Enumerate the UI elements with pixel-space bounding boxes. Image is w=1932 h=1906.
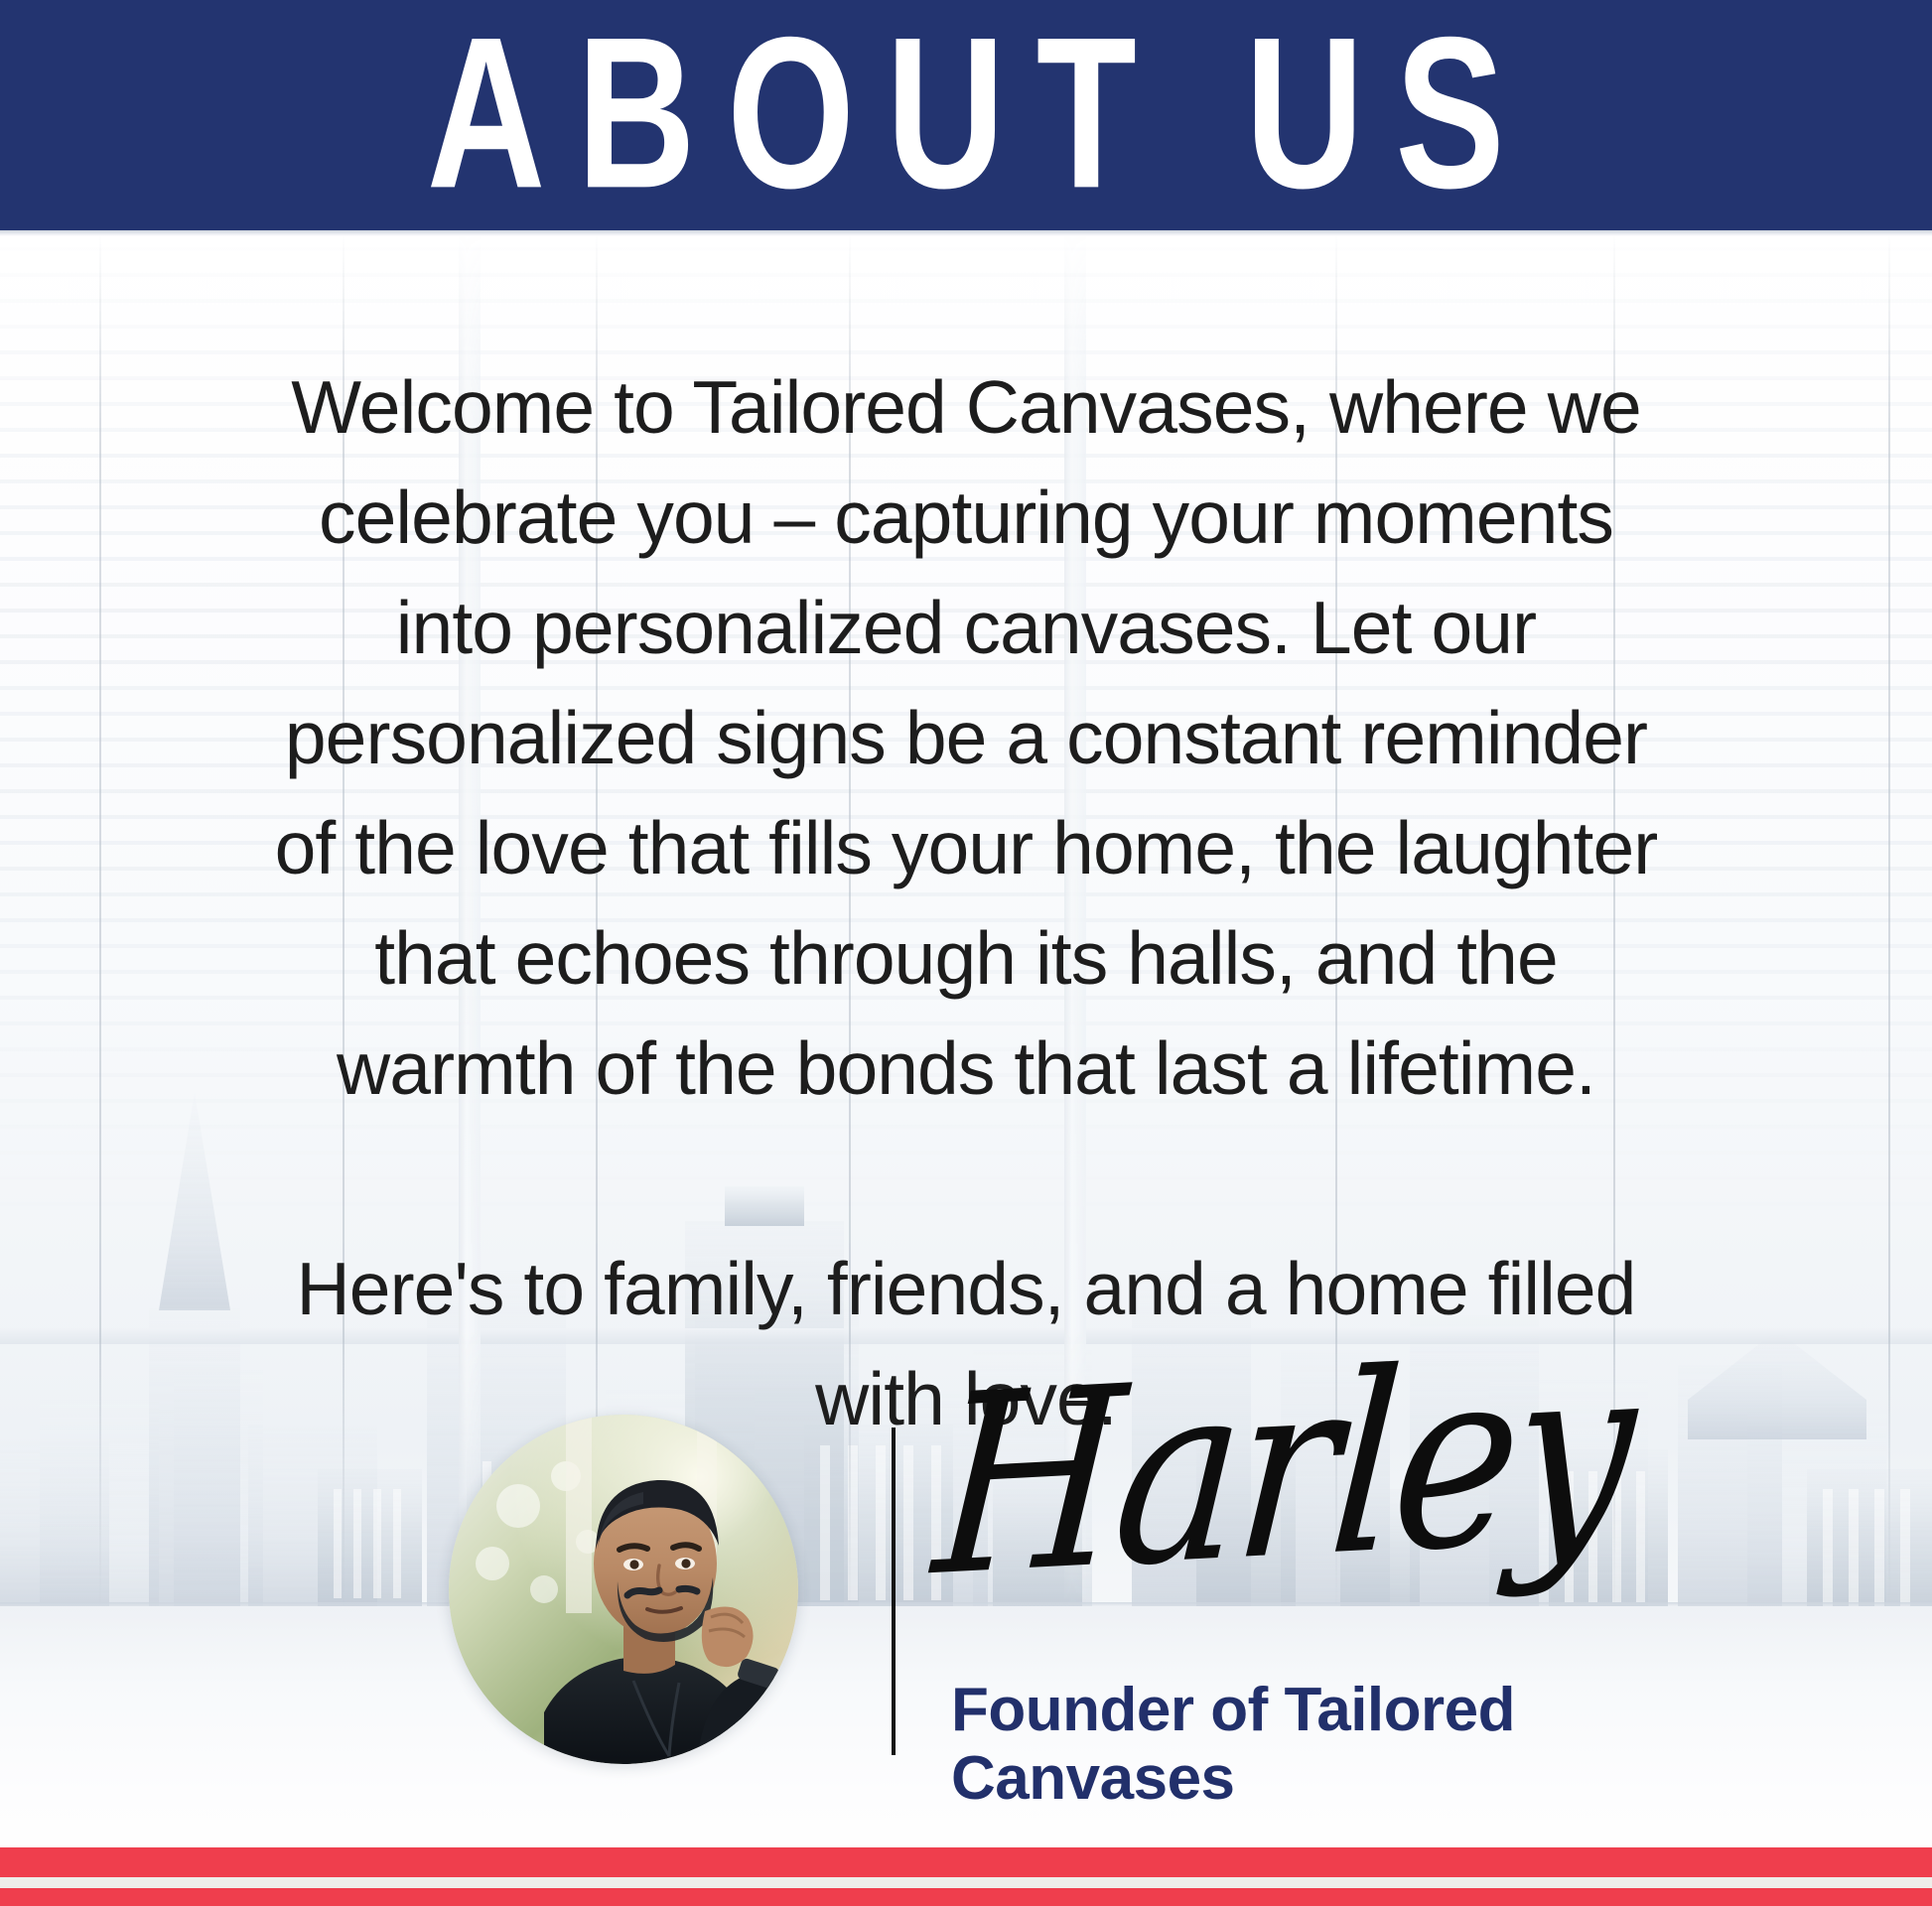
- footer-stripe-gap: [0, 1877, 1932, 1888]
- page-title: ABOUT US: [395, 5, 1536, 220]
- header-underline: [0, 230, 1932, 236]
- founder-role: Founder of Tailored Canvases: [951, 1676, 1646, 1814]
- founder-avatar: [449, 1415, 798, 1764]
- window-mullion: [1888, 230, 1890, 1610]
- about-us-poster: ABOUT US Welcome to Tailored Canvases, w…: [0, 0, 1932, 1906]
- signature-divider: [892, 1428, 896, 1755]
- about-us-body: Welcome to Tailored Canvases, where we c…: [271, 352, 1661, 1454]
- window-mullion: [99, 230, 101, 1610]
- about-paragraph-1: Welcome to Tailored Canvases, where we c…: [271, 352, 1661, 1124]
- founder-role-line-2: Canvases: [951, 1744, 1646, 1813]
- footer-stripe-top: [0, 1847, 1932, 1877]
- founder-role-line-1: Founder of Tailored: [951, 1676, 1646, 1744]
- signature-block: Harley Founder of Tailored Canvases: [933, 1390, 1658, 1807]
- footer-stripe-bottom: [0, 1888, 1932, 1906]
- header-band: ABOUT US: [0, 0, 1932, 230]
